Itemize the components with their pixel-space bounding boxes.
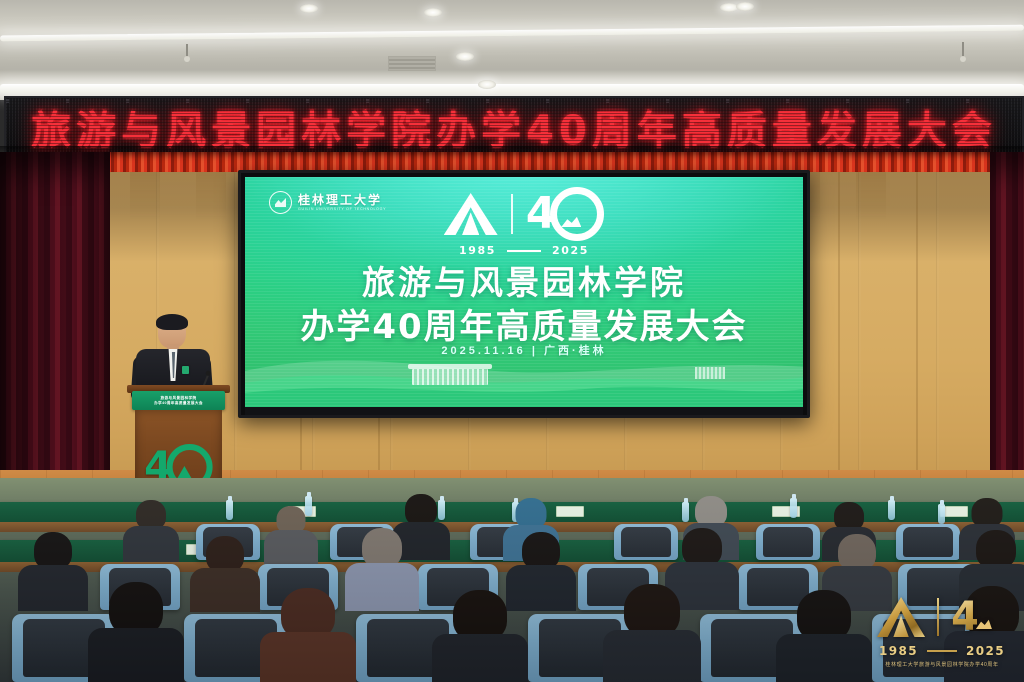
- watermark: 4 1985 2025 桂林理工大学旅游与风景园林学院办学40周年: [874, 594, 1010, 668]
- watermark-years: 1985 2025: [879, 644, 1005, 658]
- shoulders: [260, 632, 356, 682]
- ceiling-downlight: [736, 2, 754, 11]
- water-bottle: [888, 500, 895, 520]
- shoulders: [345, 563, 419, 611]
- presentation-screen: 桂林理工大学 GUILIN UNIVERSITY OF TECHNOLOGY 4…: [238, 170, 810, 418]
- mountain-mark-icon: [877, 597, 925, 637]
- shoulders: [88, 628, 184, 682]
- cove-light-upper: [0, 25, 1024, 42]
- watermark-year-dash: [927, 650, 957, 652]
- wall-seam: [916, 172, 918, 482]
- audience-member: [268, 506, 314, 562]
- auditorium-seat: [614, 524, 678, 560]
- auditorium-seat: [896, 524, 960, 560]
- ceiling-downlight: [424, 8, 442, 17]
- ceiling-hanger: [186, 44, 188, 58]
- stage-curtain-right: [990, 152, 1024, 492]
- audience-member: [24, 532, 82, 610]
- shoulders: [123, 526, 179, 562]
- conference-photo: 旅游与风景园林学院办学40周年高质量发展大会 桂林理工大学 GUILIN UNI…: [0, 0, 1024, 682]
- speaker-hair: [156, 314, 188, 330]
- screen-scanlines: [245, 177, 803, 407]
- screen-content: 桂林理工大学 GUILIN UNIVERSITY OF TECHNOLOGY 4…: [245, 177, 803, 407]
- audience-member: [612, 584, 692, 682]
- shoulders: [264, 530, 318, 564]
- desk-nameplate: [556, 506, 584, 517]
- speaker-badge: [182, 366, 189, 374]
- podium-sign-line2: 办学40周年高质量发展大会: [154, 401, 203, 405]
- watermark-divider: [937, 598, 939, 636]
- shoulders: [776, 634, 872, 682]
- watermark-year-start: 1985: [879, 644, 918, 658]
- ceiling-downlight: [300, 4, 318, 13]
- shoulders: [18, 565, 88, 611]
- shoulders: [603, 630, 701, 682]
- wall-seam: [838, 172, 840, 482]
- shoulders: [190, 568, 260, 612]
- audience-member: [96, 582, 176, 682]
- audience-member: [512, 532, 570, 610]
- seat-pad: [621, 527, 671, 557]
- audience-member: [440, 590, 520, 682]
- water-bottle: [790, 498, 797, 518]
- seat-pad: [903, 527, 953, 557]
- auditorium-seat: [756, 524, 820, 560]
- cove-light-lower: [0, 84, 1024, 93]
- stage-curtain-left-shadow: [0, 152, 110, 492]
- ceiling-air-vent: [388, 56, 436, 71]
- audience-member: [784, 590, 864, 682]
- watermark-caption: 桂林理工大学旅游与风景园林学院办学40周年: [885, 661, 998, 668]
- podium-sign-line1: 旅游与风景园林学院: [161, 396, 197, 400]
- screen-bottom-edge: [245, 407, 803, 415]
- audience-area: [0, 478, 1024, 682]
- audience-member: [196, 536, 254, 610]
- ceiling-hanger: [962, 42, 964, 58]
- ceiling-downlight: [456, 52, 474, 61]
- watermark-emblem-row: 4: [877, 594, 1007, 640]
- head: [362, 528, 402, 568]
- watermark-zero-mountain-icon: [973, 600, 1007, 634]
- audience-member: [128, 500, 174, 560]
- podium-sign: 旅游与风景园林学院 办学40周年高质量发展大会: [132, 391, 225, 410]
- ceiling-downlight: [478, 80, 496, 89]
- ceiling: [0, 0, 1024, 100]
- audience-member: [268, 588, 348, 682]
- water-bottle: [938, 504, 945, 524]
- watermark-year-end: 2025: [966, 644, 1005, 658]
- water-bottle: [226, 500, 233, 520]
- audience-member: [352, 528, 412, 610]
- shoulders: [432, 634, 528, 682]
- seat-pad: [763, 527, 813, 557]
- watermark-anniversary: 4: [951, 597, 1007, 637]
